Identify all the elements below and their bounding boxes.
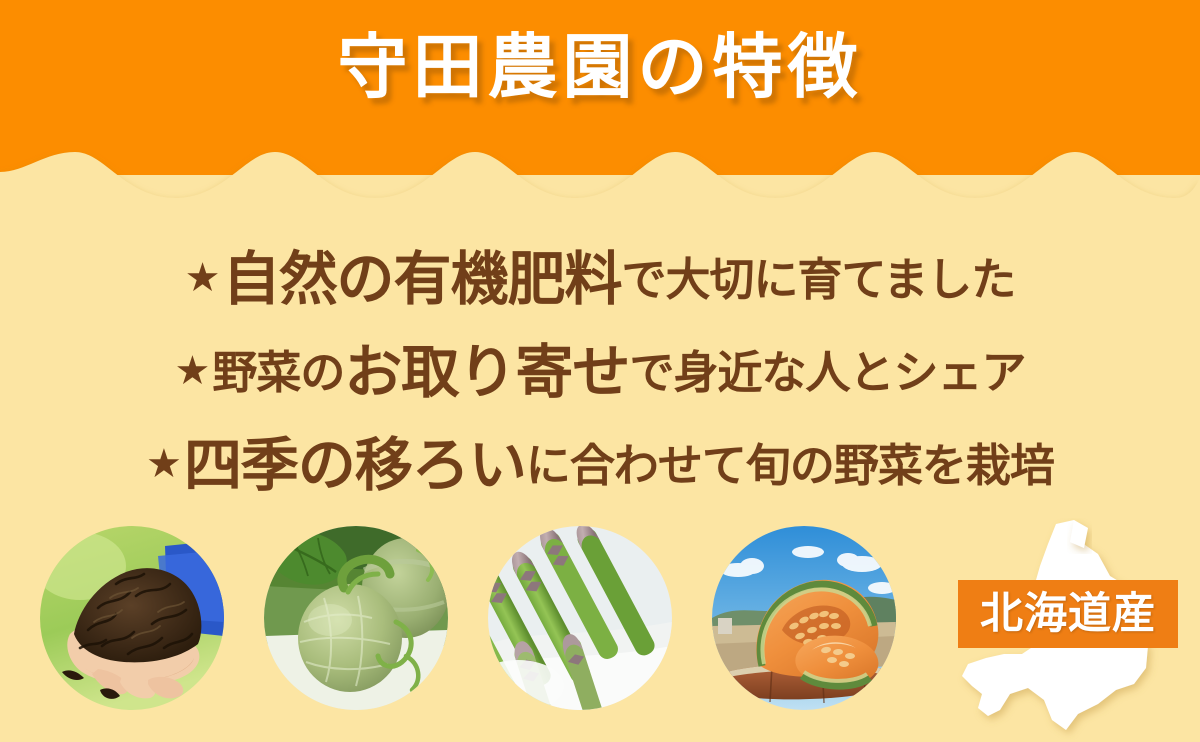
feature-1-rest: で大切に育てました bbox=[622, 253, 1016, 306]
wave-divider bbox=[0, 150, 1200, 215]
feature-2-rest: で身近な人とシェア bbox=[629, 346, 1025, 399]
hokkaido-badge-label: 北海道産 bbox=[980, 593, 1156, 636]
feature-1-emphasis: 自然の有機肥料 bbox=[223, 245, 622, 313]
page-title: 守田農園の特徴 bbox=[0, 22, 1200, 112]
photo-melons-on-vine bbox=[264, 526, 448, 710]
hokkaido-badge-band: 北海道産 bbox=[958, 580, 1178, 648]
compost-in-hands-illustration bbox=[40, 526, 224, 710]
feature-3-emphasis: 四季の移ろい bbox=[184, 431, 526, 499]
star-icon: ★ bbox=[185, 255, 221, 301]
photo-compost-in-hands bbox=[40, 526, 224, 710]
header-band: 守田農園の特徴 bbox=[0, 0, 1200, 215]
star-icon: ★ bbox=[175, 348, 211, 394]
hokkaido-badge: 北海道産 bbox=[948, 518, 1188, 740]
feature-line-2: ★野菜のお取り寄せで身近な人とシェア bbox=[0, 325, 1200, 418]
feature-line-1: ★自然の有機肥料で大切に育てました bbox=[0, 232, 1200, 325]
star-icon: ★ bbox=[146, 441, 182, 487]
feature-2-prefix: 野菜の bbox=[212, 346, 344, 399]
melons-on-vine-illustration bbox=[264, 526, 448, 710]
photo-cut-cantaloupe-melon bbox=[712, 526, 896, 710]
feature-3-rest: に合わせて旬の野菜を栽培 bbox=[526, 439, 1054, 492]
photo-asparagus-spears bbox=[488, 526, 672, 710]
feature-line-3: ★四季の移ろいに合わせて旬の野菜を栽培 bbox=[0, 418, 1200, 511]
feature-list: ★自然の有機肥料で大切に育てました ★野菜のお取り寄せで身近な人とシェア ★四季… bbox=[0, 232, 1200, 511]
asparagus-spears-illustration bbox=[488, 526, 672, 710]
promo-banner: 守田農園の特徴 ★自然の有機肥料で大切に育てました ★野菜のお取り寄せで身近な人… bbox=[0, 0, 1200, 742]
cut-cantaloupe-illustration bbox=[712, 526, 896, 710]
feature-2-emphasis: お取り寄せ bbox=[344, 338, 629, 406]
